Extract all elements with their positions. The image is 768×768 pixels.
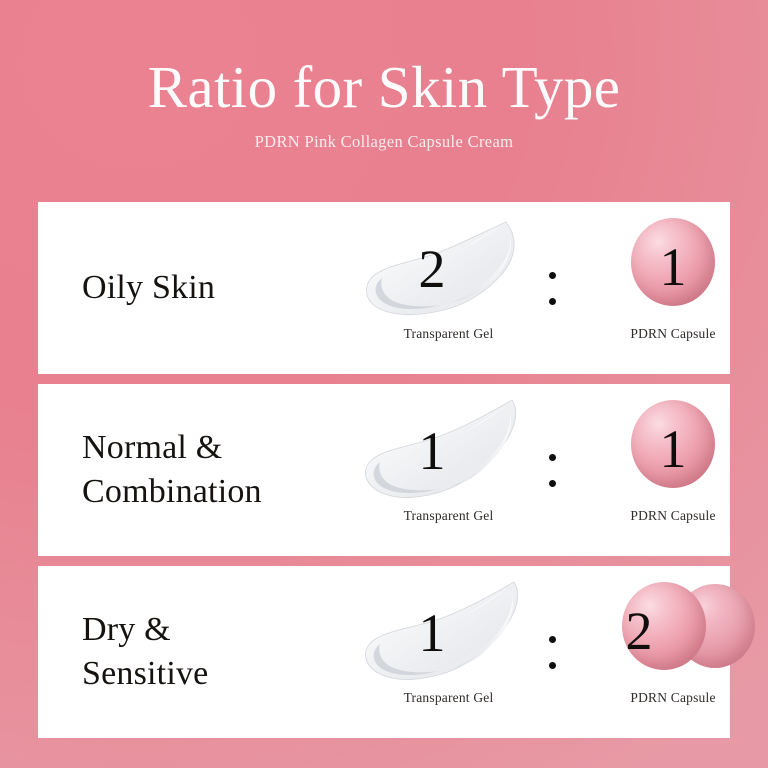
pdrn-capsule-block: 2 PDRN Capsule: [578, 566, 768, 738]
ratio-separator-icon: [544, 202, 560, 374]
infographic-poster: Ratio for Skin Type PDRN Pink Collagen C…: [0, 0, 768, 768]
colon-dot-top: [549, 272, 556, 279]
capsule-amount-value: 2: [544, 604, 734, 658]
capsule-caption: PDRN Capsule: [578, 508, 768, 524]
capsule-amount-value: 1: [578, 240, 768, 294]
colon-dot-bottom: [549, 298, 556, 305]
pdrn-capsule-block: 1 PDRN Capsule: [578, 384, 768, 556]
gel-visual: 2: [338, 220, 543, 320]
capsule-amount-value: 1: [578, 422, 768, 476]
capsule-caption: PDRN Capsule: [578, 690, 768, 706]
ratio-row: Dry & Sensitive: [38, 566, 730, 738]
skin-type-label: Oily Skin: [82, 202, 352, 374]
poster-header: Ratio for Skin Type PDRN Pink Collagen C…: [0, 0, 768, 152]
pdrn-capsule-block: 1 PDRN Capsule: [578, 202, 768, 374]
gel-amount-value: 1: [338, 424, 526, 478]
capsule-visual: 2: [578, 584, 768, 684]
gel-visual: 1: [338, 402, 543, 502]
colon-dot-bottom: [549, 480, 556, 487]
ratio-separator-icon: [544, 384, 560, 556]
transparent-gel-block: 1 Transparent Gel: [338, 384, 543, 556]
ratio-row: Oily Skin: [38, 202, 730, 374]
page-title: Ratio for Skin Type: [0, 0, 768, 119]
capsule-visual: 1: [578, 402, 768, 502]
gel-caption: Transparent Gel: [338, 326, 551, 342]
ratio-row-list: Oily Skin: [38, 202, 730, 738]
colon-dot-top: [549, 454, 556, 461]
gel-caption: Transparent Gel: [338, 690, 551, 706]
gel-amount-value: 1: [338, 606, 526, 660]
colon-dot-bottom: [549, 662, 556, 669]
capsule-visual: 1: [578, 220, 768, 320]
gel-amount-value: 2: [338, 242, 526, 296]
transparent-gel-block: 2 Transparent Gel: [338, 202, 543, 374]
skin-type-label: Normal & Combination: [82, 384, 352, 556]
ratio-row: Normal & Combination: [38, 384, 730, 556]
gel-visual: 1: [338, 584, 543, 684]
transparent-gel-block: 1 Transparent Gel: [338, 566, 543, 738]
skin-type-label: Dry & Sensitive: [82, 566, 352, 738]
capsule-caption: PDRN Capsule: [578, 326, 768, 342]
gel-caption: Transparent Gel: [338, 508, 551, 524]
page-subtitle: PDRN Pink Collagen Capsule Cream: [0, 119, 768, 152]
